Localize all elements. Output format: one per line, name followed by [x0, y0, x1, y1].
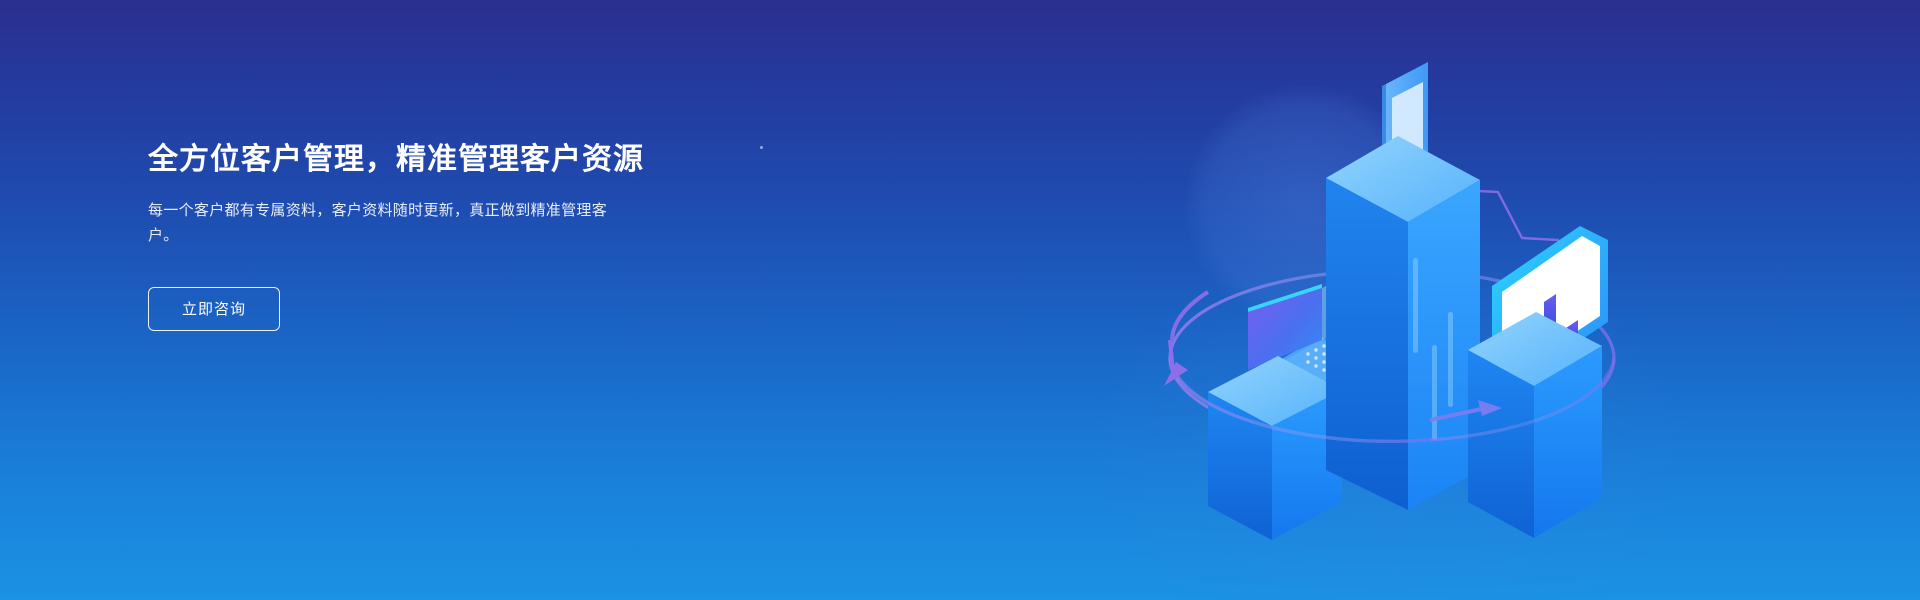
consult-now-button[interactable]: 立即咨询: [148, 287, 280, 331]
hero-subtitle: 每一个客户都有专属资料，客户资料随时更新，真正做到精准管理客户。: [148, 199, 628, 249]
page-title: 全方位客户管理，精准管理客户资源: [148, 140, 768, 179]
hero-banner: 全方位客户管理，精准管理客户资源 每一个客户都有专属资料，客户资料随时更新，真正…: [0, 0, 1920, 600]
hero-illustration: [1130, 40, 1650, 560]
right-pillar: [1468, 226, 1608, 538]
arrow-left-down-icon: [1164, 292, 1208, 386]
hero-copy-block: 全方位客户管理，精准管理客户资源 每一个客户都有专属资料，客户资料随时更新，真正…: [148, 140, 768, 331]
